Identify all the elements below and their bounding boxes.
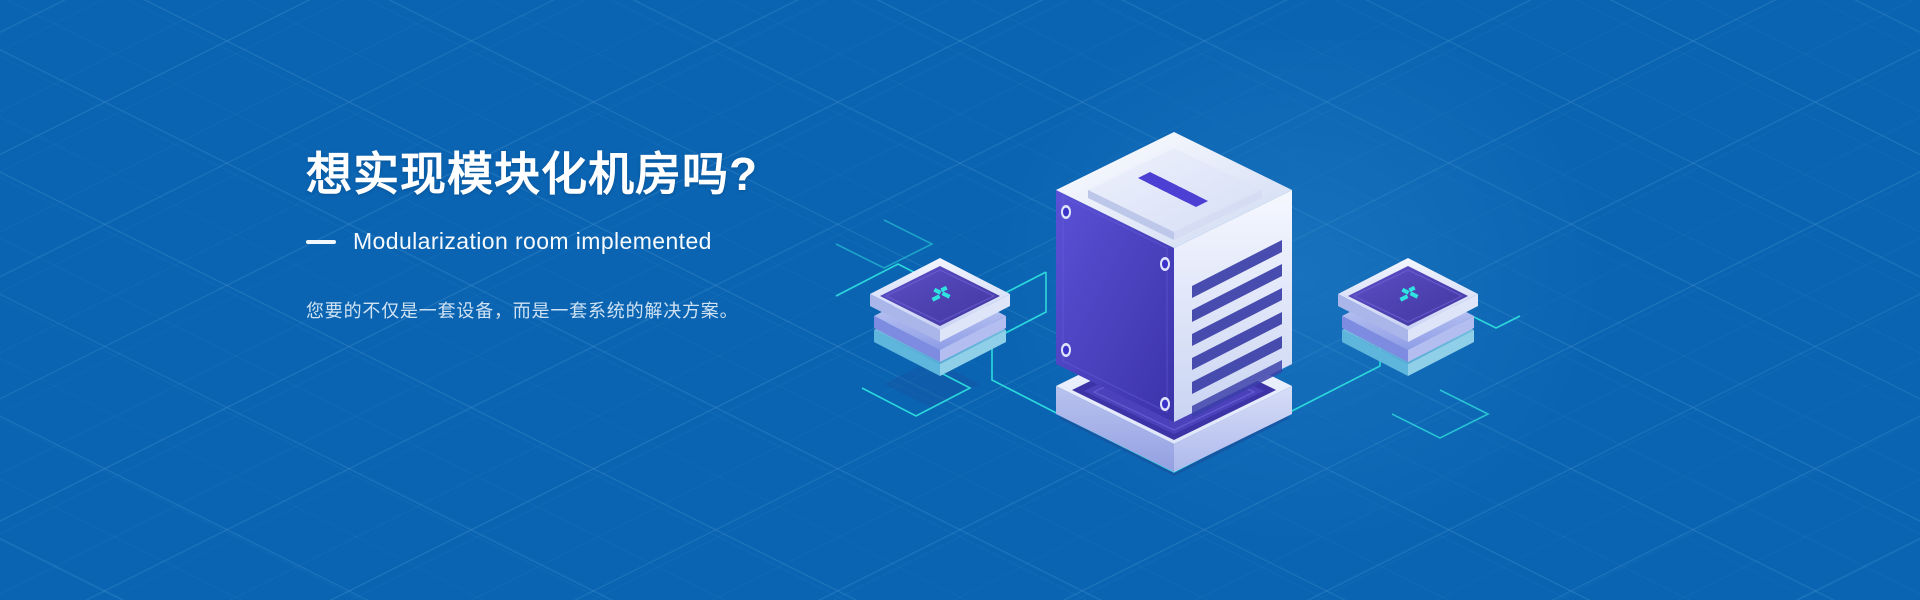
hero-subtitle: Modularization room implemented — [353, 228, 712, 255]
hero-banner: 想实现模块化机房吗? Modularization room implement… — [0, 0, 1920, 600]
divider-dash-icon — [306, 240, 336, 244]
module-chip-right — [1338, 258, 1478, 376]
server-cabinet — [1056, 132, 1292, 472]
module-chip-left — [870, 258, 1010, 376]
isometric-datacenter-illustration — [820, 60, 1520, 540]
